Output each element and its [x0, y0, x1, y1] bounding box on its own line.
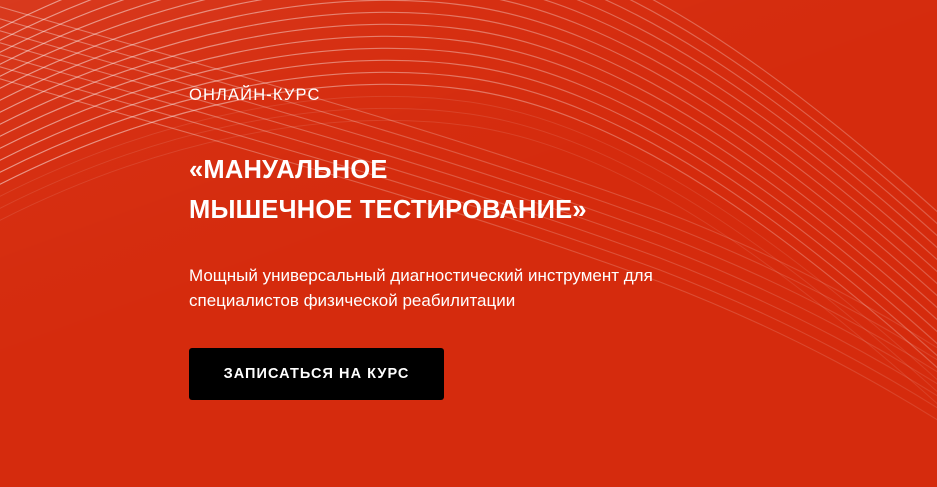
hero-banner: ОНЛАЙН-КУРС «МАНУАЛЬНОЕ МЫШЕЧНОЕ ТЕСТИРО…	[0, 0, 937, 487]
hero-subtitle: Мощный универсальный диагностический инс…	[189, 263, 764, 313]
page-title-line-1: «МАНУАЛЬНОЕ	[189, 150, 587, 190]
page-title: «МАНУАЛЬНОЕ МЫШЕЧНОЕ ТЕСТИРОВАНИЕ»	[189, 150, 587, 230]
enroll-course-button[interactable]: ЗАПИСАТЬСЯ НА КУРС	[189, 348, 444, 400]
page-title-line-2: МЫШЕЧНОЕ ТЕСТИРОВАНИЕ»	[189, 190, 587, 230]
hero-content: ОНЛАЙН-КУРС «МАНУАЛЬНОЕ МЫШЕЧНОЕ ТЕСТИРО…	[189, 0, 829, 487]
hero-eyebrow: ОНЛАЙН-КУРС	[189, 86, 321, 106]
